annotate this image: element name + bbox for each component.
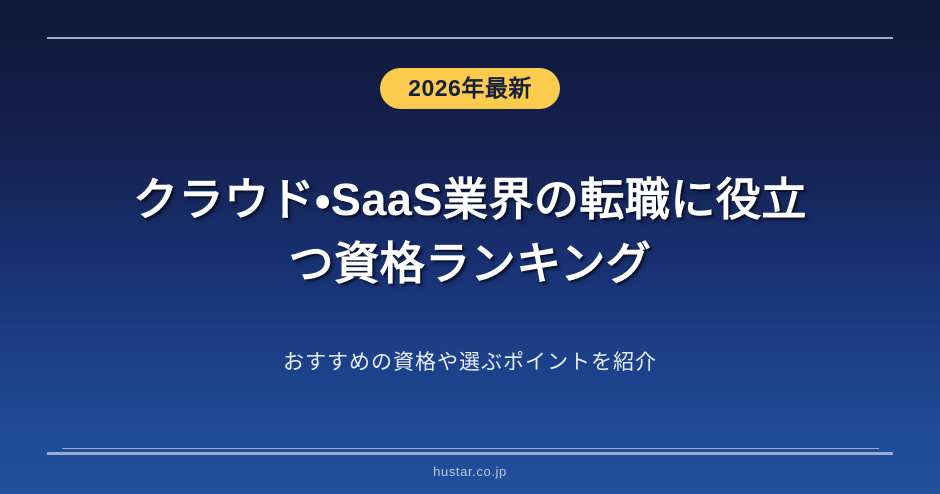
page-title-line-2: つ資格ランキング — [70, 232, 870, 296]
page-title-line-1: クラウド・SaaS業界の転職に役立 — [70, 168, 870, 232]
badge-row: 2026年最新 — [0, 68, 940, 109]
page-title: クラウド・SaaS業界の転職に役立 つ資格ランキング — [0, 168, 940, 296]
top-divider-line — [47, 37, 893, 39]
hero-banner: 2026年最新 クラウド・SaaS業界の転職に役立 つ資格ランキング おすすめの… — [0, 0, 940, 494]
site-domain-label: hustar.co.jp — [0, 464, 940, 480]
bottom-divider-line-thick — [47, 452, 893, 455]
year-badge: 2026年最新 — [380, 68, 560, 109]
bottom-divider-line-thin — [62, 448, 879, 449]
page-subtitle: おすすめの資格や選ぶポイントを紹介 — [0, 348, 940, 377]
